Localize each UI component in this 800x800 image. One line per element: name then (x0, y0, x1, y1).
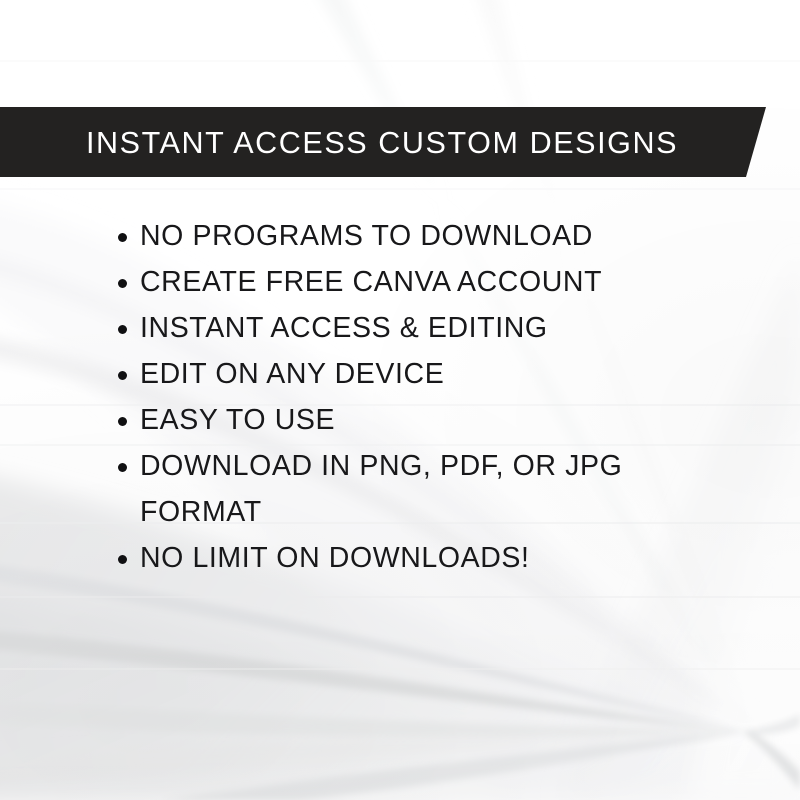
list-item-label: EASY TO USE (140, 404, 335, 436)
list-item-wrapped-line: FORMAT (0, 489, 800, 535)
list-item: EDIT ON ANY DEVICE (0, 351, 800, 397)
design-canvas: INSTANT ACCESS CUSTOM DESIGNS NO PROGRAM… (0, 0, 800, 800)
list-item: EASY TO USE (0, 397, 800, 443)
list-item-label: NO LIMIT ON DOWNLOADS! (140, 542, 530, 574)
list-item: NO PROGRAMS TO DOWNLOAD (0, 213, 800, 259)
bullet-dot-icon (118, 555, 127, 564)
bullet-dot-icon (118, 417, 127, 426)
list-item: DOWNLOAD IN PNG, PDF, OR JPG (0, 443, 800, 489)
list-item-label: DOWNLOAD IN PNG, PDF, OR JPG (140, 450, 622, 482)
list-item-label: EDIT ON ANY DEVICE (140, 358, 444, 390)
page-title: INSTANT ACCESS CUSTOM DESIGNS (86, 127, 678, 158)
benefits-list: NO PROGRAMS TO DOWNLOAD CREATE FREE CANV… (0, 213, 800, 581)
list-item: NO LIMIT ON DOWNLOADS! (0, 535, 800, 581)
list-item: INSTANT ACCESS & EDITING (0, 305, 800, 351)
bullet-dot-icon (118, 279, 127, 288)
list-item-label: CREATE FREE CANVA ACCOUNT (140, 266, 602, 298)
header-banner: INSTANT ACCESS CUSTOM DESIGNS (0, 107, 766, 177)
bullet-dot-icon (118, 325, 127, 334)
list-item-label: INSTANT ACCESS & EDITING (140, 312, 548, 344)
list-item-label: FORMAT (140, 496, 262, 528)
bullet-dot-icon (118, 371, 127, 380)
list-item-label: NO PROGRAMS TO DOWNLOAD (140, 220, 593, 252)
list-item: CREATE FREE CANVA ACCOUNT (0, 259, 800, 305)
bullet-dot-icon (118, 233, 127, 242)
bullet-dot-icon (118, 463, 127, 472)
